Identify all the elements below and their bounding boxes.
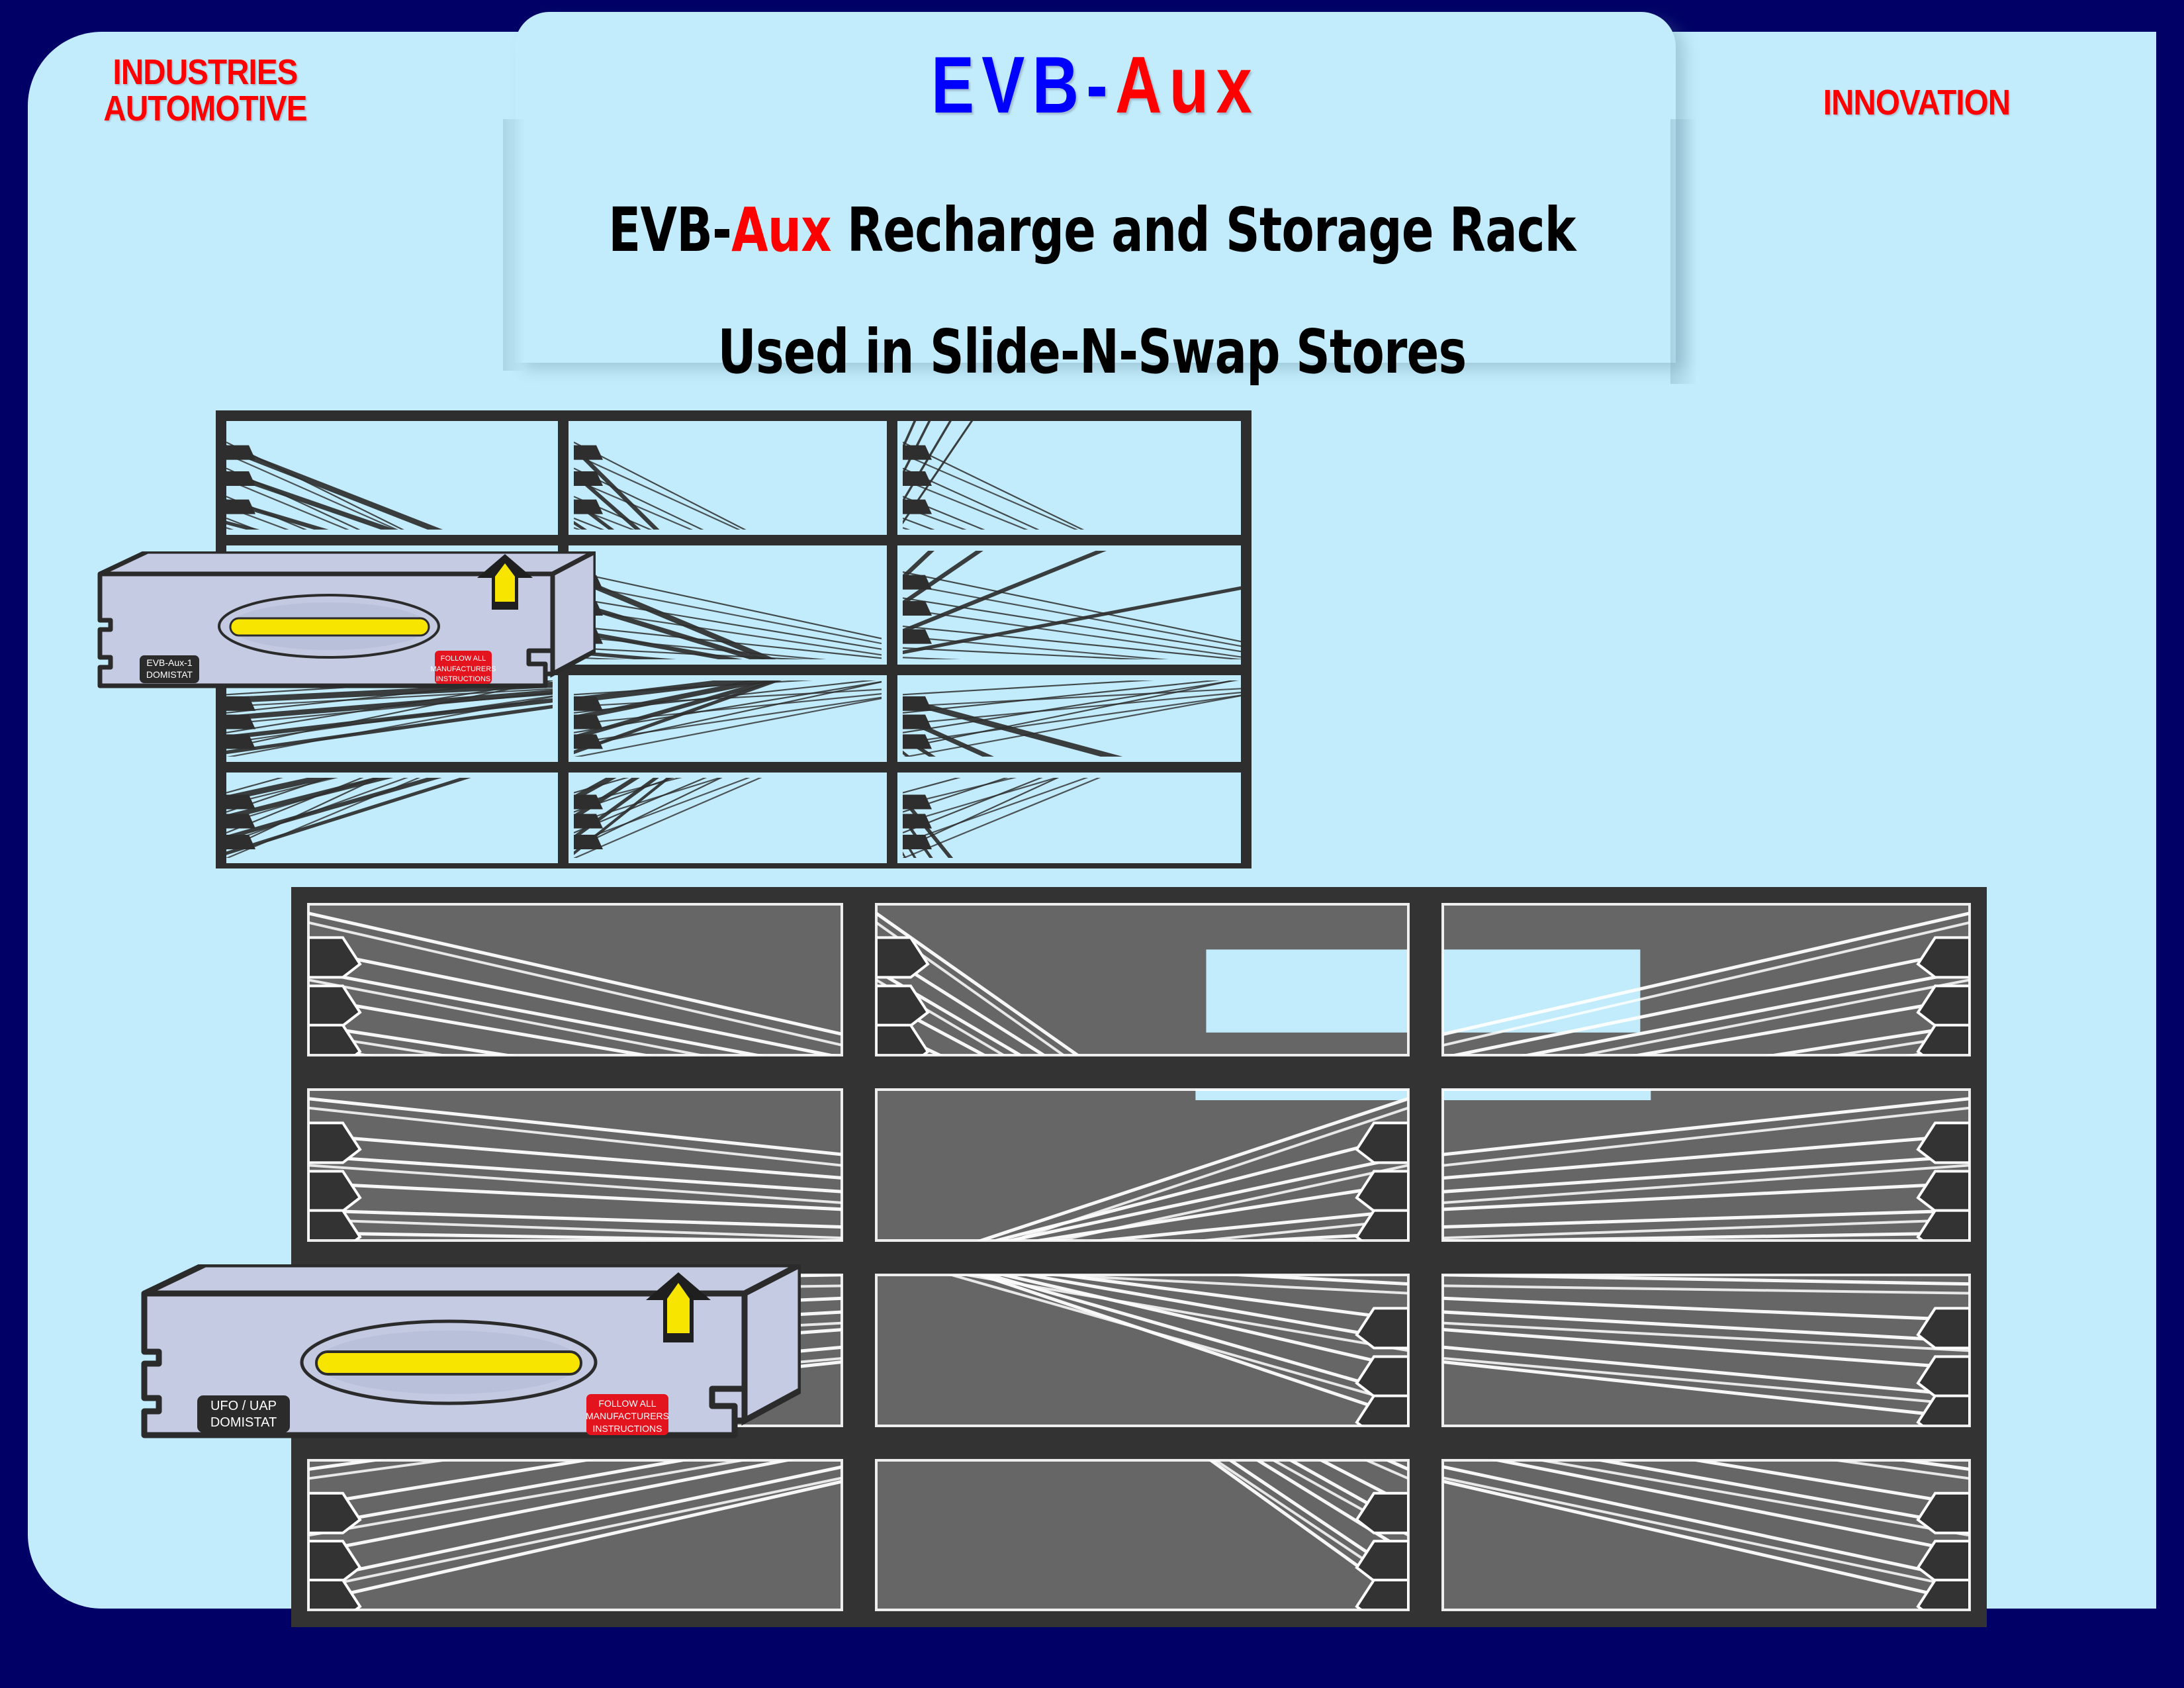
brand-title-part-2: Aux (1115, 40, 1259, 130)
module-warning-line-3: INSTRUCTIONS (436, 675, 491, 683)
industries-line-2: AUTOMOTIVE (103, 89, 306, 128)
brand-title: EVB-Aux (631, 38, 1559, 131)
slide-canvas: INDUSTRIESAUTOMOTIVE INNOVATION EVB-Aux … (0, 0, 2184, 1688)
module-warning-line-3: INSTRUCTIONS (593, 1423, 662, 1434)
rack-beam (216, 410, 1251, 421)
open-bay (1206, 949, 1419, 1032)
corner-label-industries: INDUSTRIESAUTOMOTIVE (83, 54, 328, 127)
subtitle-line-1: EVB-Aux Recharge and Storage Rack (240, 195, 1944, 265)
module-warning-line-1: FOLLOW ALL (598, 1398, 656, 1409)
module-id-line-2: DOMISTAT (146, 669, 193, 680)
subtitle-line-2: Used in Slide-N-Swap Stores (240, 316, 1944, 387)
subtitle-red: Aux (731, 195, 831, 265)
module-id-line-1: UFO / UAP (210, 1399, 277, 1413)
rack-upright (1241, 410, 1251, 868)
status-indicator-lamp (316, 1352, 581, 1374)
open-bay (1195, 1090, 1419, 1100)
industries-line-1: INDUSTRIES (113, 52, 297, 92)
module-top-face (144, 1264, 801, 1293)
module-side-face (553, 551, 596, 674)
rack-lower-filled (291, 887, 1987, 1627)
module-warning-line-2: MANUFACTURERS (586, 1411, 669, 1421)
brand-title-part-1: EVB- (931, 40, 1115, 130)
rack-beam (216, 762, 1251, 773)
status-indicator-lamp (230, 618, 429, 635)
rack-upright (887, 410, 897, 868)
module-id-line-2: DOMISTAT (210, 1415, 277, 1430)
subtitle-post: Recharge and Storage Rack (831, 195, 1576, 265)
module-ufo-uap[interactable]: UFO / UAP DOMISTAT FOLLOW ALL MANUFACTUR… (139, 1264, 801, 1439)
open-bay (1430, 949, 1640, 1032)
module-id-line-1: EVB-Aux-1 (146, 657, 192, 668)
module-warning-line-2: MANUFACTURERS (430, 665, 496, 673)
module-evb-aux-1[interactable]: EVB-Aux-1 DOMISTAT FOLLOW ALL MANUFACTUR… (96, 551, 596, 689)
rack-beam (216, 535, 1251, 545)
subtitle-pre: EVB- (608, 195, 731, 265)
module-side-face (745, 1264, 801, 1421)
corner-label-innovation: INNOVATION (1765, 85, 2068, 121)
module-warning-line-1: FOLLOW ALL (441, 655, 486, 663)
open-bay (1430, 1090, 1651, 1100)
rack-beam (216, 863, 1251, 868)
